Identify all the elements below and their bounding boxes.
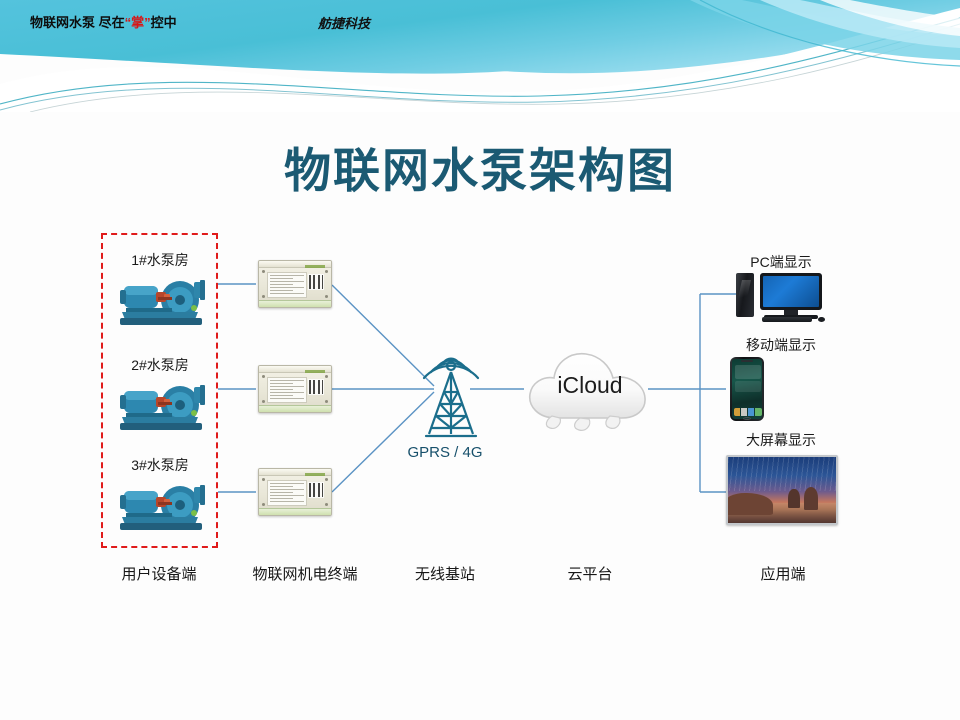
- terminal-qr-code: [308, 274, 324, 290]
- tower-label: GPRS / 4G: [375, 444, 515, 461]
- terminal-green-connector: [305, 473, 325, 476]
- terminal-screw: [262, 375, 265, 378]
- terminal-green-connector: [305, 370, 325, 373]
- banner-slogan: 物联网水泵 尽在“掌”控中: [30, 12, 177, 31]
- desktop-computer-icon: [734, 273, 826, 323]
- phone-widget: [735, 365, 761, 379]
- endpoint-bigscreen-label: 大屏幕显示: [706, 430, 856, 450]
- pump-room-3-label: 3#水泵房: [100, 455, 220, 475]
- company-brand: 舫捷科技: [318, 13, 370, 32]
- cloud-label: iCloud: [520, 372, 660, 399]
- pc-monitor: [760, 273, 822, 310]
- column-label-cloud-platform: 云平台: [520, 563, 660, 584]
- phone-screen: [732, 359, 762, 419]
- bigscreen-frame: [726, 455, 838, 525]
- water-pump-icon: [114, 274, 206, 330]
- header-banner: 物联网水泵 尽在“掌”控中 舫捷科技: [0, 0, 960, 112]
- column-label-iot-terminals: 物联网机电终端: [225, 563, 385, 584]
- left-connector-lines: [218, 284, 256, 492]
- column-label-applications: 应用端: [713, 563, 853, 584]
- terminal-qr-code: [308, 379, 324, 395]
- terminal-screw: [325, 295, 328, 298]
- terminal-spec-label: [267, 272, 307, 298]
- terminal-spec-label: [267, 480, 307, 506]
- terminal-screw: [325, 503, 328, 506]
- terminal-bottom-strip: [259, 508, 331, 515]
- cell-tower-node: [398, 330, 504, 450]
- wallpaper-rock: [788, 489, 800, 509]
- smartphone-icon: [730, 357, 764, 421]
- large-display-icon: [726, 455, 838, 525]
- endpoint-pc-label: PC端显示: [706, 252, 856, 272]
- iot-terminal-2: [258, 365, 332, 413]
- terminal-spec-label: [267, 377, 307, 403]
- terminal-screw: [262, 503, 265, 506]
- slide-canvas: 物联网水泵 尽在“掌”控中 舫捷科技 物联网水泵架构图: [0, 0, 960, 720]
- slogan-part-1: 物联网水泵 尽在: [30, 15, 125, 30]
- terminal-screw: [262, 400, 265, 403]
- terminal-bottom-strip: [259, 300, 331, 307]
- wallpaper-star-trails: [728, 457, 836, 491]
- slogan-part-2: 控中: [151, 15, 177, 30]
- terminal-screw: [262, 270, 265, 273]
- terminal-screw: [325, 375, 328, 378]
- terminal-bottom-strip: [259, 405, 331, 412]
- phone-widget: [735, 381, 761, 392]
- pc-mouse: [818, 317, 825, 322]
- wallpaper-rock: [804, 487, 818, 509]
- column-label-user-devices: 用户设备端: [99, 563, 219, 584]
- phone-earpiece: [741, 360, 753, 362]
- terminal-screw: [262, 295, 265, 298]
- page-title: 物联网水泵架构图: [0, 132, 960, 201]
- cell-tower-icon: [398, 330, 504, 446]
- terminal-screw: [325, 400, 328, 403]
- pc-keyboard: [762, 317, 812, 322]
- bigscreen-wallpaper: [728, 457, 836, 523]
- pump-room-1-label: 1#水泵房: [100, 250, 220, 270]
- slogan-highlight-char: 掌: [131, 15, 144, 30]
- column-label-base-station: 无线基站: [375, 563, 515, 584]
- pc-tower: [736, 273, 754, 317]
- terminal-screw: [262, 478, 265, 481]
- endpoint-mobile-label: 移动端显示: [706, 335, 856, 355]
- iot-terminal-3: [258, 468, 332, 516]
- terminal-screw: [325, 478, 328, 481]
- terminal-green-connector: [305, 265, 325, 268]
- phone-dock: [734, 408, 762, 416]
- terminal-qr-code: [308, 482, 324, 498]
- pump-room-2-label: 2#水泵房: [100, 355, 220, 375]
- wallpaper-rock: [728, 493, 773, 515]
- terminal-screw: [325, 270, 328, 273]
- phone-body: [730, 357, 764, 421]
- water-pump-icon: [114, 379, 206, 435]
- iot-terminal-1: [258, 260, 332, 308]
- phone-home-button: [743, 417, 751, 420]
- pc-screen: [763, 276, 819, 307]
- water-pump-icon: [114, 479, 206, 535]
